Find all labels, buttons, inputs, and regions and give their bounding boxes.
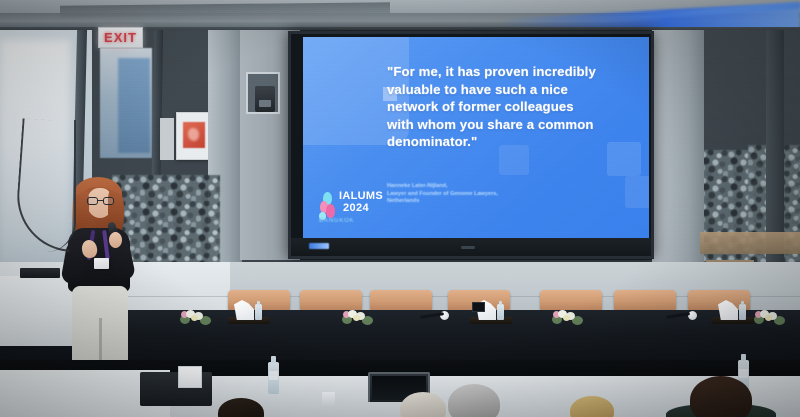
audience-head <box>690 376 752 417</box>
wall-column-right <box>652 30 704 290</box>
audience-head <box>448 384 500 417</box>
framed-artwork <box>176 112 210 160</box>
flower-arrangement <box>178 306 212 326</box>
exit-sign-label: EXIT <box>104 30 137 45</box>
water-bottle <box>739 304 746 320</box>
place-setting <box>712 300 754 324</box>
slide-surface: "For me, it has proven incredibly valuab… <box>303 37 649 238</box>
slide-decor-bottom-right-2 <box>625 176 649 208</box>
name-card <box>472 302 485 312</box>
water-bottle <box>268 362 279 394</box>
presenter-badge <box>94 258 109 269</box>
wall-speaker-icon <box>255 86 275 112</box>
conference-room-photo: EXIT "For me, it has proven incredibly v… <box>0 0 800 417</box>
far-window-daylight <box>118 58 150 153</box>
projection-screen: "For me, it has proven incredibly valuab… <box>288 31 654 259</box>
screen-sensor-icon <box>461 246 475 249</box>
foreground-cup <box>322 392 335 406</box>
artwork-image <box>183 122 205 148</box>
water-bottle <box>497 304 504 320</box>
foreground-white-card <box>178 366 202 388</box>
slide-quote-text: "For me, it has proven incredibly valuab… <box>387 63 602 151</box>
folded-napkin <box>234 300 254 320</box>
podium-object <box>20 268 60 278</box>
slide-decor-bottom-right-1 <box>607 142 641 176</box>
exit-sign: EXIT <box>98 27 143 48</box>
attribution-line-2: Lawyer and Founder of Genome Lawyers, <box>387 191 577 199</box>
presenter-glasses-icon <box>87 197 114 205</box>
slide-attribution: Hanneke Later-Nijland, Lawyer and Founde… <box>387 183 577 206</box>
logo-name: IALUMS <box>339 191 383 202</box>
logo-mark-icon <box>319 192 337 220</box>
panel-chair <box>614 290 676 310</box>
flower-arrangement <box>550 306 584 326</box>
screen-bezel-bottom <box>291 238 651 256</box>
folded-napkin <box>718 300 738 320</box>
microphone-cable-loop <box>46 120 76 252</box>
logo-subtitle: BANGKOK <box>319 218 354 224</box>
panel-chair <box>370 290 432 310</box>
screen-status-led <box>309 243 329 249</box>
attribution-line-1: Hanneke Later-Nijland, <box>387 183 577 191</box>
flower-arrangement <box>752 306 786 326</box>
presenter-hand-right <box>109 232 122 248</box>
water-bottle <box>255 304 262 320</box>
wall-niche <box>246 72 280 114</box>
place-setting <box>228 300 270 324</box>
logo-year: 2024 <box>343 203 369 214</box>
flower-arrangement <box>340 306 374 326</box>
wood-panel-right <box>700 232 800 254</box>
framed-artwork-secondary <box>160 118 174 160</box>
attribution-line-3: Netherlands <box>387 198 577 206</box>
slide-logo: IALUMS 2024 BANGKOK <box>319 190 395 230</box>
